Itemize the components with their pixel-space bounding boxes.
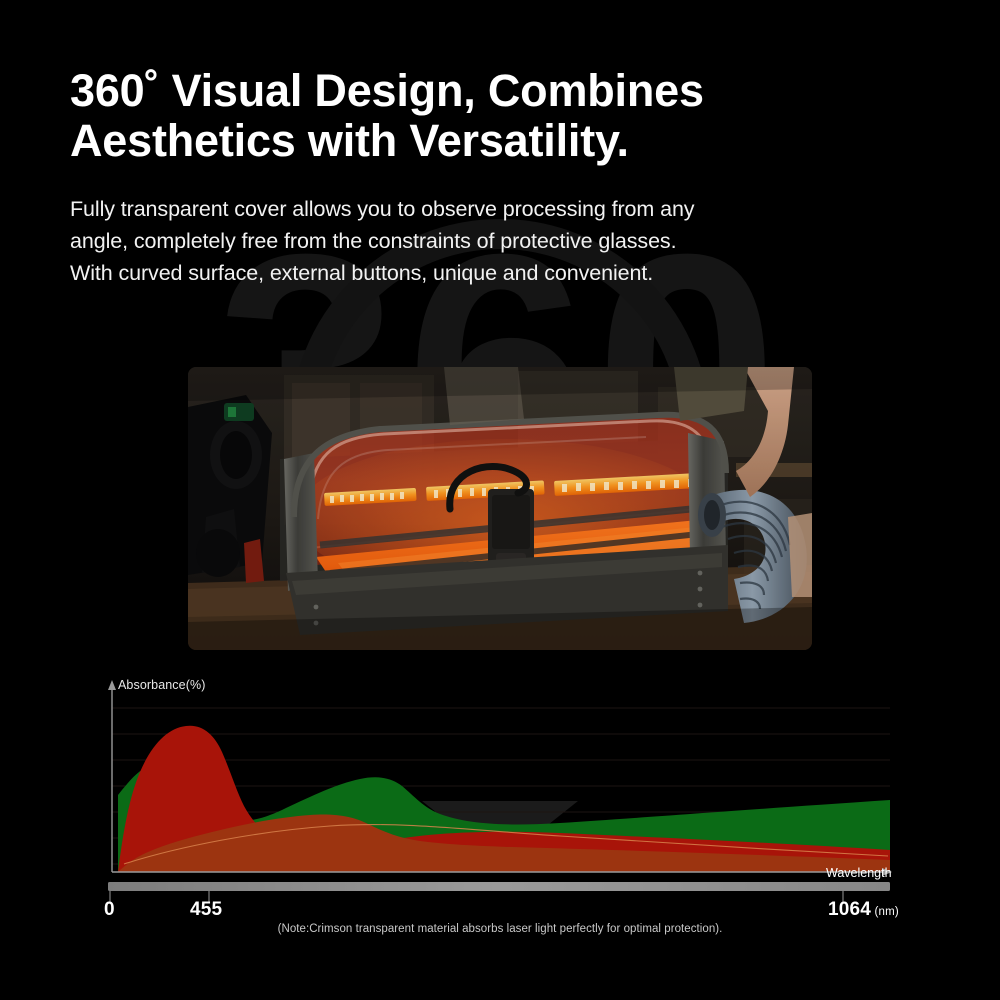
wavelength-scale-bar (108, 882, 890, 891)
chart-x-axis-label: Wavelength (826, 866, 892, 880)
chart-footnote: (Note:Crimson transparent material absor… (0, 923, 1000, 935)
page-title: 360˚ Visual Design, Combines Aesthetics … (70, 66, 870, 167)
x-tick-1064: 1064 (nm) (828, 899, 899, 921)
product-photo (188, 367, 812, 650)
promo-page: 360 360˚ Visual Design, Combines Aesthet… (0, 0, 1000, 1000)
page-title-line-1: 360˚ Visual Design, Combines (70, 66, 870, 116)
x-tick-1064-value: 1064 (828, 899, 871, 920)
page-description-line-1: Fully transparent cover allows you to ob… (70, 194, 870, 226)
page-description: Fully transparent cover allows you to ob… (70, 194, 870, 289)
page-description-line-2: angle, completely free from the constrai… (70, 226, 870, 258)
x-axis-unit: (nm) (871, 906, 899, 918)
product-photo-illustration (188, 367, 812, 650)
chart-y-axis-label: Absorbance(%) (118, 678, 205, 692)
page-description-line-3: With curved surface, external buttons, u… (70, 258, 870, 290)
x-tick-0: 0 (104, 899, 115, 921)
x-tick-455: 455 (190, 899, 222, 921)
page-title-line-2: Aesthetics with Versatility. (70, 116, 870, 166)
chart-y-axis (108, 680, 116, 872)
